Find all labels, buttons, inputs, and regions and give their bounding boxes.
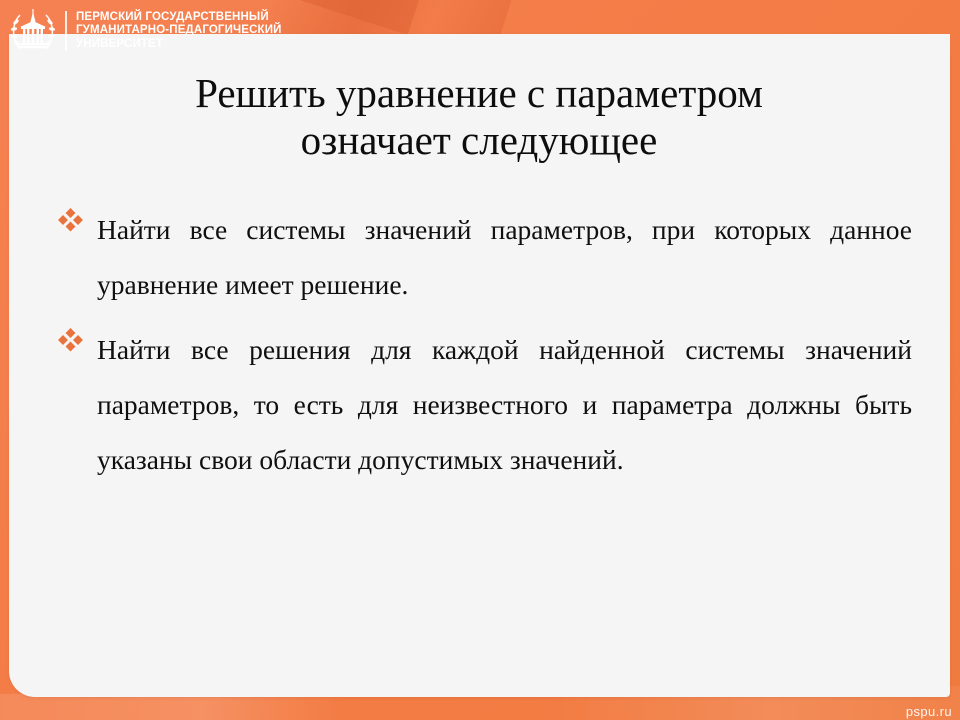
slide-title: Решить уравнение с параметром означает с… [69, 70, 889, 164]
university-name-line-3: УНИВЕРСИТЕТ [76, 38, 282, 52]
slide-content: Решить уравнение с параметром означает с… [9, 34, 950, 697]
logo-divider [65, 11, 67, 51]
bullet-text: Найти все решения для каждой найденной с… [97, 322, 912, 487]
university-name-line-2: ГУМАНИТАРНО-ПЕДАГОГИЧЕСКИЙ [76, 24, 282, 38]
diamond-cluster-bullet-icon [57, 328, 83, 354]
presentation-slide: ПЕРМСКИЙ ГОСУДАРСТВЕННЫЙ ГУМАНИТАРНО-ПЕД… [0, 0, 960, 720]
university-crest-icon [8, 5, 58, 57]
site-watermark: pspu.ru [906, 704, 952, 719]
slide-title-line-1: Решить уравнение с параметром [69, 70, 889, 117]
background-swoosh-left [0, 694, 340, 720]
diamond-cluster-bullet-icon [57, 208, 83, 234]
university-name: ПЕРМСКИЙ ГОСУДАРСТВЕННЫЙ ГУМАНИТАРНО-ПЕД… [76, 11, 282, 52]
university-name-line-1: ПЕРМСКИЙ ГОСУДАРСТВЕННЫЙ [76, 11, 282, 25]
bullet-list: Найти все системы значений параметров, п… [47, 202, 912, 497]
list-item: Найти все решения для каждой найденной с… [47, 322, 912, 487]
list-item: Найти все системы значений параметров, п… [47, 202, 912, 312]
bullet-text: Найти все системы значений параметров, п… [97, 202, 912, 312]
university-logo-block: ПЕРМСКИЙ ГОСУДАРСТВЕННЫЙ ГУМАНИТАРНО-ПЕД… [0, 0, 300, 62]
slide-title-line-2: означает следующее [69, 117, 889, 164]
